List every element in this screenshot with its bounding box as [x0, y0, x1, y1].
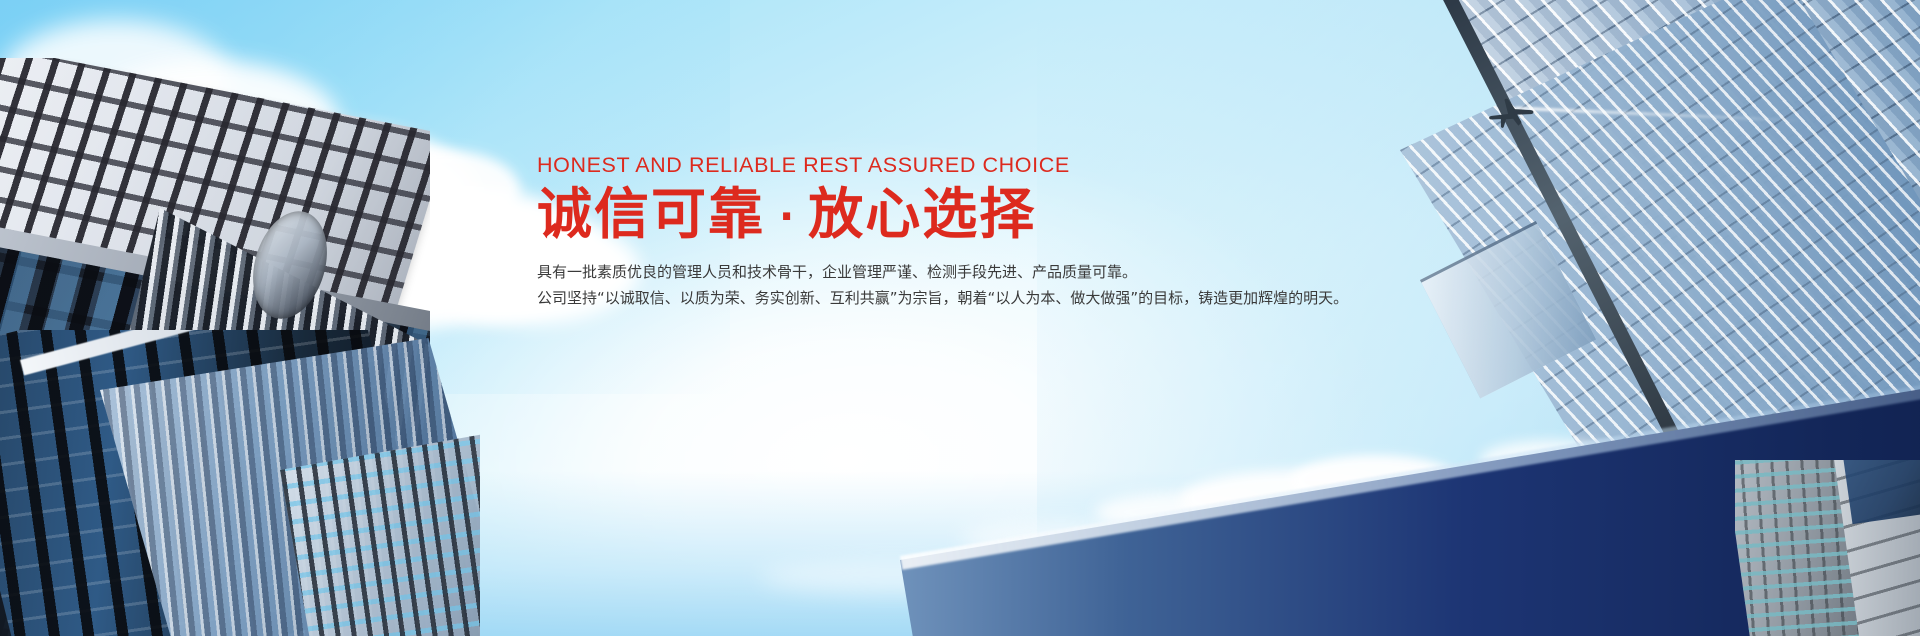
banner-body-line-2: 公司坚持“以诚取信、以质为荣、务实创新、互利共赢”为宗旨，朝着“以人为本、做大做…	[537, 285, 1357, 311]
page-title: 诚信可靠·放心选择	[537, 186, 1357, 244]
headline-part-left: 诚信可靠	[537, 182, 765, 246]
banner-body-line-1: 具有一批素质优良的管理人员和技术骨干，企业管理严谨、检测手段先进、产品质量可靠。	[537, 259, 1357, 285]
banner-copy-block: HONEST AND RELIABLE REST ASSURED CHOICE …	[537, 155, 1357, 311]
hero-banner: HONEST AND RELIABLE REST ASSURED CHOICE …	[0, 0, 1920, 636]
bottom-right-concrete-tower	[1735, 460, 1920, 636]
concrete-tower-glass-band	[1840, 460, 1920, 524]
headline-part-right: 放心选择	[808, 182, 1036, 246]
lower-left-buildings	[0, 330, 480, 636]
headline-separator-dot: ·	[765, 194, 808, 240]
banner-eyebrow-text: HONEST AND RELIABLE REST ASSURED CHOICE	[537, 155, 1357, 177]
